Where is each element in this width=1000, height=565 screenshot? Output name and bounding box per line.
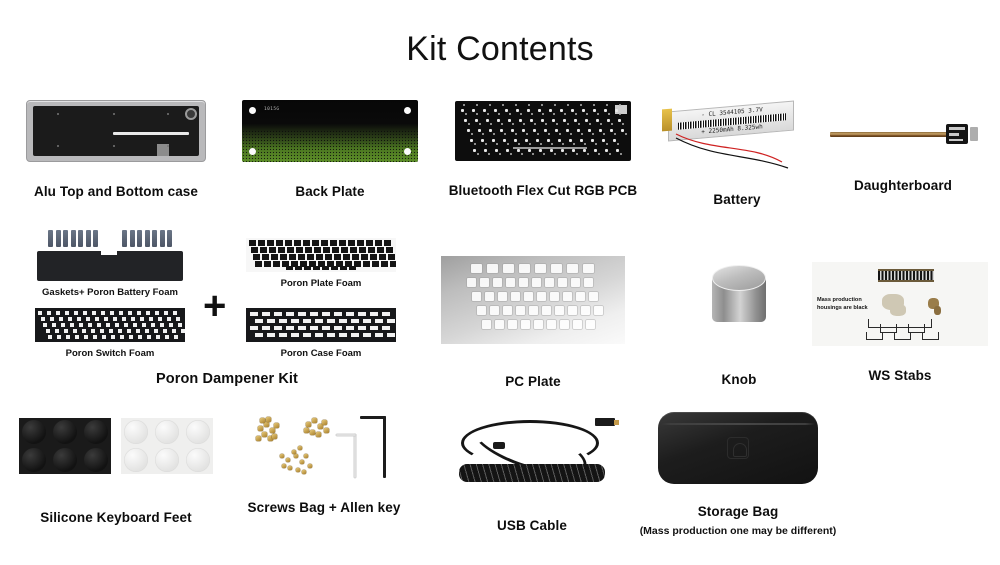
knob-image	[684, 256, 794, 342]
item-storage-bag: Storage Bag (Mass production one may be …	[658, 412, 818, 537]
kit-contents-page: Kit Contents Alu Top and Bottom case 101…	[0, 0, 1000, 565]
plate-foam-image	[246, 238, 396, 272]
item-poron-plate-foam: Poron Plate Foam	[243, 238, 399, 289]
case-foam-image	[246, 308, 396, 342]
item-label-alu-case: Alu Top and Bottom case	[16, 184, 216, 201]
item-battery: - CL 3544105 3.7V + 2250mAh 8.325wh Batt…	[662, 100, 812, 209]
item-poron-dampener-kit: Poron Dampener Kit	[62, 370, 392, 388]
sub-label-poron-plate-foam: Poron Plate Foam	[243, 278, 399, 289]
item-screws-allen: Screws Bag + Allen key	[236, 408, 412, 517]
item-ws-stabs: Mass production housings are black WS St…	[812, 262, 988, 385]
sub-label-poron-switch-foam: Poron Switch Foam	[32, 348, 188, 359]
item-label-storage-bag: Storage Bag	[658, 504, 818, 521]
pcb-image	[455, 101, 631, 161]
item-gaskets-battery-foam: Gaskets+ Poron Battery Foam	[22, 230, 198, 298]
item-label-usb-cable: USB Cable	[447, 518, 617, 535]
stabs-note-line-2: housings are black	[817, 305, 868, 311]
item-label-pc-plate: PC Plate	[441, 374, 625, 391]
item-label-daughterboard: Daughterboard	[823, 178, 983, 195]
sub-label-gaskets-battery-foam: Gaskets+ Poron Battery Foam	[22, 287, 198, 298]
item-pc-plate: PC Plate	[441, 256, 625, 391]
back-plate-image: 1015G	[242, 100, 418, 162]
sub-label-poron-case-foam: Poron Case Foam	[243, 348, 399, 359]
stabs-note: Mass production housings are black	[817, 296, 879, 313]
battery-foam-image	[37, 251, 183, 281]
item-label-screws-allen: Screws Bag + Allen key	[236, 500, 412, 517]
item-daughterboard: Daughterboard	[823, 115, 983, 195]
battery-wires-icon	[662, 100, 812, 170]
aluminum-keyboard-case-image	[26, 100, 206, 162]
item-poron-case-foam: Poron Case Foam	[243, 308, 399, 359]
item-label-poron-dampener-kit: Poron Dampener Kit	[62, 370, 392, 388]
plus-symbol: +	[203, 286, 226, 326]
item-label-back-plate: Back Plate	[230, 184, 430, 201]
item-label-pcb: Bluetooth Flex Cut RGB PCB	[443, 183, 643, 200]
gaskets-image	[22, 230, 198, 247]
item-silicone-feet: Silicone Keyboard Feet	[18, 418, 214, 527]
screws-and-allen-key-image	[236, 408, 412, 492]
item-label-battery: Battery	[662, 192, 812, 209]
item-label-ws-stabs: WS Stabs	[812, 368, 988, 385]
item-knob: Knob	[684, 256, 794, 389]
item-label-silicone-feet: Silicone Keyboard Feet	[18, 510, 214, 527]
item-back-plate: 1015G Back Plate	[230, 100, 430, 201]
item-alu-case: Alu Top and Bottom case	[16, 100, 216, 201]
storage-bag-image	[658, 412, 818, 484]
item-pcb: Bluetooth Flex Cut RGB PCB	[443, 101, 643, 200]
daughterboard-image	[828, 115, 978, 155]
pc-plate-image	[441, 256, 625, 344]
switch-foam-image	[35, 308, 185, 342]
item-sublabel-storage-bag: (Mass production one may be different)	[618, 525, 858, 537]
item-usb-cable: USB Cable	[447, 414, 617, 535]
stabilizers-image: Mass production housings are black	[812, 262, 988, 346]
lipo-battery-image: - CL 3544105 3.7V + 2250mAh 8.325wh	[662, 100, 812, 170]
item-poron-switch-foam: Poron Switch Foam	[32, 308, 188, 359]
item-label-knob: Knob	[684, 372, 794, 389]
silicone-feet-image	[18, 418, 214, 474]
back-plate-silkscreen: 1015G	[264, 107, 280, 112]
page-title: Kit Contents	[0, 30, 1000, 69]
stabs-note-line-1: Mass production	[817, 297, 862, 303]
usb-cable-image	[447, 414, 617, 488]
